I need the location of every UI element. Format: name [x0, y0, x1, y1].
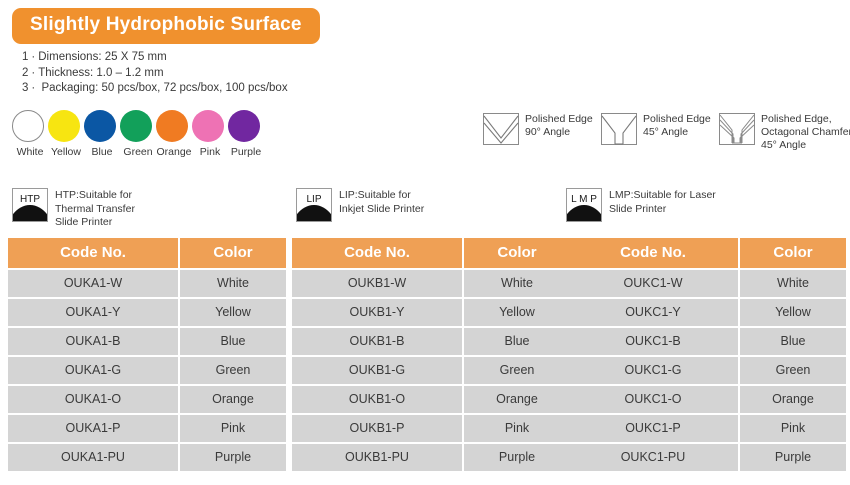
color-swatch-purple [228, 110, 260, 142]
specification-item: 1·Dimensions: 25 X 75 mm [22, 50, 288, 66]
printer-badge-lmp-text: LMP:Suitable for Laser Slide Printer [609, 188, 716, 216]
edge-option-octagonal-chamfer: Polished Edge, Octagonal Chamfer 45° Ang… [718, 112, 850, 152]
table-row: OUKA1-GGreen [8, 357, 286, 384]
printer-badge-htp-text: HTP:Suitable for Thermal Transfer Slide … [55, 188, 135, 230]
table-row: OUKB1-OOrange [292, 386, 570, 413]
cell-color: Orange [740, 386, 846, 413]
table-row: OUKA1-YYellow [8, 299, 286, 326]
badge-line: Slide Printer [55, 216, 112, 228]
table-row: OUKC1-BBlue [568, 328, 846, 355]
cell-color: Blue [180, 328, 286, 355]
badge-arc-fill [12, 205, 48, 222]
lmp-badge-icon: L M P [566, 188, 602, 222]
polished-edge-90-icon [482, 112, 520, 151]
table-row: OUKC1-OOrange [568, 386, 846, 413]
color-swatch-label: Pink [192, 146, 228, 158]
table-row: OUKC1-PUPurple [568, 444, 846, 471]
table-row: OUKB1-YYellow [292, 299, 570, 326]
table-row: OUKC1-GGreen [568, 357, 846, 384]
edge-option-45: Polished Edge 45° Angle [600, 112, 711, 151]
cell-code-no: OUKA1-P [8, 415, 178, 442]
badge-line: Thermal Transfer [55, 203, 135, 215]
color-swatch-green [120, 110, 152, 142]
table-row: OUKC1-YYellow [568, 299, 846, 326]
table-row: OUKB1-BBlue [292, 328, 570, 355]
cell-color: Blue [740, 328, 846, 355]
cell-code-no: OUKC1-O [568, 386, 738, 413]
header-cell-color: Color [180, 238, 286, 268]
cell-color: Orange [464, 386, 570, 413]
specification-list: 1·Dimensions: 25 X 75 mm2·Thickness: 1.0… [22, 50, 288, 97]
table-header-row: Code No.Color [568, 238, 846, 268]
cell-color: Purple [740, 444, 846, 471]
badge-line: Slide Printer [609, 203, 666, 215]
specification-item: 3· Packaging: 50 pcs/box, 72 pcs/box, 10… [22, 81, 288, 97]
color-swatch-orange [156, 110, 188, 142]
cell-code-no: OUKC1-Y [568, 299, 738, 326]
edge-line: Polished Edge [525, 113, 593, 125]
cell-code-no: OUKC1-P [568, 415, 738, 442]
cell-code-no: OUKA1-G [8, 357, 178, 384]
cell-code-no: OUKC1-B [568, 328, 738, 355]
cell-code-no: OUKB1-W [292, 270, 462, 297]
printer-badge-lmp: L M P LMP:Suitable for Laser Slide Print… [566, 188, 716, 222]
badge-arc-fill [296, 205, 332, 222]
table-row: OUKB1-WWhite [292, 270, 570, 297]
htp-badge-code: HTP [13, 194, 47, 205]
polished-edge-octagonal-chamfer-icon [718, 112, 756, 151]
table-row: OUKB1-GGreen [292, 357, 570, 384]
cell-code-no: OUKA1-O [8, 386, 178, 413]
cell-color: Green [464, 357, 570, 384]
cell-code-no: OUKC1-G [568, 357, 738, 384]
cell-color: Orange [180, 386, 286, 413]
color-swatch-white [12, 110, 44, 142]
table-row: OUKA1-PUPurple [8, 444, 286, 471]
specification-separator: · [28, 50, 38, 66]
cell-color: Green [180, 357, 286, 384]
color-swatch-label: Purple [228, 146, 264, 158]
color-swatch-yellow [48, 110, 80, 142]
badge-line: LIP:Suitable for [339, 189, 411, 201]
cell-color: Yellow [180, 299, 286, 326]
badge-line: LMP:Suitable for Laser [609, 189, 716, 201]
cell-color: White [464, 270, 570, 297]
cell-code-no: OUKA1-W [8, 270, 178, 297]
color-swatch-label: White [12, 146, 48, 158]
code-table-htp: Code No.ColorOUKA1-WWhiteOUKA1-YYellowOU… [8, 238, 286, 473]
header-cell-code-no: Code No. [568, 238, 738, 268]
cell-color: Blue [464, 328, 570, 355]
table-row: OUKA1-PPink [8, 415, 286, 442]
edge-option-90-text: Polished Edge 90° Angle [525, 112, 593, 139]
header-cell-color: Color [464, 238, 570, 268]
page-title: Slightly Hydrophobic Surface [12, 8, 320, 44]
cell-code-no: OUKB1-B [292, 328, 462, 355]
polished-edge-45-icon [600, 112, 638, 151]
edge-line: Octagonal Chamfer [761, 126, 850, 138]
cell-color: Pink [464, 415, 570, 442]
badge-arc-fill [566, 205, 602, 222]
table-row: OUKA1-BBlue [8, 328, 286, 355]
code-table-lmp: Code No.ColorOUKC1-WWhiteOUKC1-YYellowOU… [568, 238, 846, 473]
edge-option-45-text: Polished Edge 45° Angle [643, 112, 711, 139]
cell-color: Green [740, 357, 846, 384]
edge-line: Polished Edge [643, 113, 711, 125]
specification-text: Thickness: 1.0 – 1.2 mm [38, 67, 163, 79]
color-swatch-pink [192, 110, 224, 142]
table-header-row: Code No.Color [8, 238, 286, 268]
specification-separator: · [28, 66, 38, 82]
cell-code-no: OUKA1-B [8, 328, 178, 355]
edge-line: 45° Angle [643, 126, 688, 138]
edge-line: 90° Angle [525, 126, 570, 138]
table-header-row: Code No.Color [292, 238, 570, 268]
header-cell-code-no: Code No. [292, 238, 462, 268]
cell-code-no: OUKB1-O [292, 386, 462, 413]
cell-code-no: OUKC1-W [568, 270, 738, 297]
printer-badge-lip-text: LIP:Suitable for Inkjet Slide Printer [339, 188, 424, 216]
color-swatch-label: Green [120, 146, 156, 158]
swatch-label-row: WhiteYellowBlueGreenOrangePinkPurple [12, 146, 264, 158]
edge-option-90: Polished Edge 90° Angle [482, 112, 593, 151]
table-row: OUKB1-PPink [292, 415, 570, 442]
edge-line: Polished Edge, [761, 113, 832, 125]
cell-color: White [180, 270, 286, 297]
specification-item: 2·Thickness: 1.0 – 1.2 mm [22, 66, 288, 82]
cell-code-no: OUKC1-PU [568, 444, 738, 471]
cell-color: Yellow [740, 299, 846, 326]
cell-code-no: OUKB1-P [292, 415, 462, 442]
specification-separator: · [28, 81, 38, 97]
cell-color: White [740, 270, 846, 297]
cell-code-no: OUKA1-PU [8, 444, 178, 471]
htp-badge-icon: HTP [12, 188, 48, 222]
header-cell-code-no: Code No. [8, 238, 178, 268]
lip-badge-icon: LIP [296, 188, 332, 222]
edge-option-octagonal-chamfer-text: Polished Edge, Octagonal Chamfer 45° Ang… [761, 112, 850, 152]
specification-text: Packaging: 50 pcs/box, 72 pcs/box, 100 p… [38, 82, 287, 94]
swatch-row [12, 110, 264, 142]
table-row: OUKA1-OOrange [8, 386, 286, 413]
cell-color: Purple [180, 444, 286, 471]
code-table-lip: Code No.ColorOUKB1-WWhiteOUKB1-YYellowOU… [292, 238, 570, 473]
cell-code-no: OUKB1-Y [292, 299, 462, 326]
table-row: OUKA1-WWhite [8, 270, 286, 297]
table-row: OUKC1-PPink [568, 415, 846, 442]
cell-code-no: OUKA1-Y [8, 299, 178, 326]
edge-line: 45° Angle [761, 139, 806, 151]
color-swatch-label: Blue [84, 146, 120, 158]
color-swatch-label: Orange [156, 146, 192, 158]
printer-badge-lip: LIP LIP:Suitable for Inkjet Slide Printe… [296, 188, 424, 222]
cell-color: Pink [180, 415, 286, 442]
color-swatch-blue [84, 110, 116, 142]
specification-text: Dimensions: 25 X 75 mm [38, 51, 166, 63]
printer-badge-htp: HTP HTP:Suitable for Thermal Transfer Sl… [12, 188, 135, 230]
color-swatch-label: Yellow [48, 146, 84, 158]
header-cell-color: Color [740, 238, 846, 268]
table-row: OUKC1-WWhite [568, 270, 846, 297]
cell-code-no: OUKB1-PU [292, 444, 462, 471]
cell-code-no: OUKB1-G [292, 357, 462, 384]
cell-color: Pink [740, 415, 846, 442]
lmp-badge-code: L M P [567, 194, 601, 205]
color-swatch-legend: WhiteYellowBlueGreenOrangePinkPurple [12, 110, 264, 158]
badge-line: Inkjet Slide Printer [339, 203, 424, 215]
table-row: OUKB1-PUPurple [292, 444, 570, 471]
cell-color: Purple [464, 444, 570, 471]
lip-badge-code: LIP [297, 194, 331, 205]
cell-color: Yellow [464, 299, 570, 326]
badge-line: HTP:Suitable for [55, 189, 132, 201]
